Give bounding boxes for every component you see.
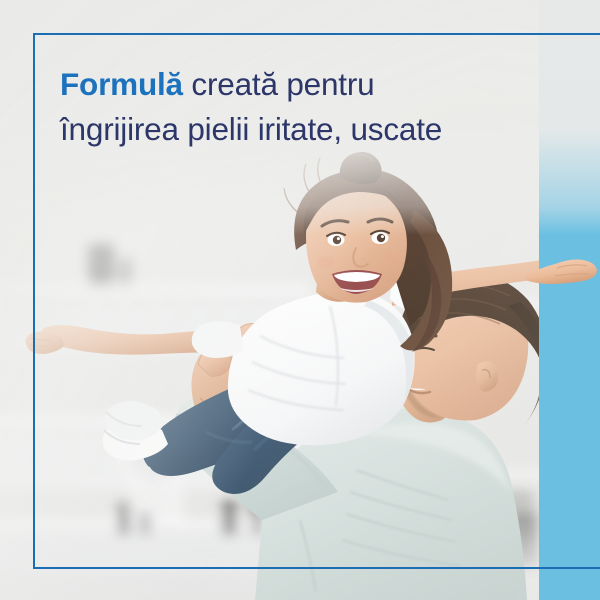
- light-blue-side-panel: [539, 0, 600, 600]
- headline-strong-word: Formulă: [60, 66, 183, 102]
- headline: Formulă creată pentru îngrijirea pielii …: [60, 62, 490, 152]
- ad-creative: Formulă creată pentru îngrijirea pielii …: [0, 0, 600, 600]
- hand-over-panel-overlay: [525, 250, 600, 298]
